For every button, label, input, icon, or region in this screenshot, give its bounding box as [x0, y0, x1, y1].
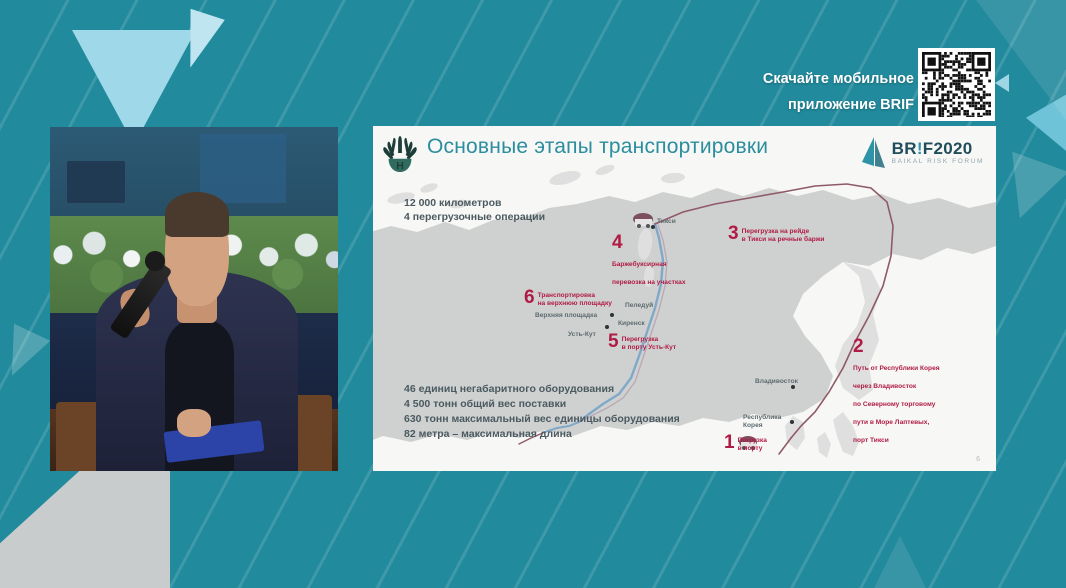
- stat-line: 630 тонн максимальный вес единицы оборуд…: [404, 412, 680, 427]
- marker-text: Перегрузка в порту Усть-Кут: [622, 336, 677, 352]
- marker-text: Транспортировка на верхнюю площадку: [538, 292, 612, 308]
- marker-number: 6: [524, 288, 535, 307]
- qr-code[interactable]: [918, 48, 995, 121]
- promo-arrow-icon: [995, 74, 1009, 92]
- brif-f2020: F2020: [923, 139, 973, 158]
- brif-wordmark: BR!F2020: [892, 140, 984, 157]
- marker-text: Путь от Республики Корея через Владивост…: [853, 365, 940, 444]
- company-emblem-icon: H: [381, 134, 419, 174]
- city-label-kirensk: Киренск: [618, 320, 645, 327]
- port-icon-tiksi: [633, 213, 653, 228]
- marker-number: 3: [728, 224, 739, 243]
- city-dot-korea: [790, 420, 794, 424]
- city-dot-vladivostok: [791, 385, 795, 389]
- speaker-hand: [177, 409, 212, 437]
- stat-line: 4 перегрузочные операции: [404, 210, 545, 224]
- brif-logo: BR!F2020 BAIKAL RISK FORUM: [860, 136, 984, 170]
- map-marker-2: 2 Путь от Республики Корея через Владиво…: [853, 337, 940, 447]
- presentation-slide[interactable]: H Основные этапы транспортировки BR!F202…: [373, 126, 996, 471]
- promo-line-2: приложение BRIF: [763, 92, 914, 118]
- marker-number: 1: [724, 433, 735, 452]
- city-label-peleduy: Пеледуй: [625, 302, 653, 309]
- city-label-vladivostok: Владивосток: [755, 378, 798, 385]
- map-marker-1: 1 Погрузка в порту: [724, 433, 767, 453]
- stats-bottom: 46 единиц негабаритного оборудования 4 5…: [404, 382, 680, 442]
- map-marker-4: 4 Баржебуксирная перевозка на участках: [612, 233, 686, 289]
- marker-text: Баржебуксирная перевозка на участках: [612, 261, 686, 286]
- promo-line-1: Скачайте мобильное: [763, 66, 914, 92]
- city-dot-ust-kut: [605, 325, 609, 329]
- page-title: Основные этапы транспортировки: [427, 135, 768, 159]
- video-stage-panel: [67, 161, 125, 202]
- city-label-verkhnyaya-ploshchadka: Верхняя площадка: [535, 312, 597, 319]
- svg-text:H: H: [396, 161, 404, 172]
- city-label-tiksi: Тикси: [657, 218, 676, 225]
- speaker-hair: [165, 192, 228, 237]
- decorative-triangle-7: [854, 536, 946, 588]
- city-label-korea: Республика Корея: [743, 414, 781, 430]
- screen: H Основные этапы транспортировки BR!F202…: [0, 0, 1066, 588]
- map-marker-6: 6 Транспортировка на верхнюю площадку: [524, 288, 612, 308]
- city-dot-verkhnyaya: [610, 313, 614, 317]
- stat-line: 4 500 тонн общий вес поставки: [404, 397, 680, 412]
- slide-page-number: 6: [976, 456, 980, 463]
- speaker-video-panel[interactable]: [50, 127, 338, 471]
- stat-line: 82 метра – максимальная длина: [404, 427, 680, 442]
- marker-number: 5: [608, 332, 619, 351]
- marker-number: 4: [612, 233, 686, 252]
- video-chair-left: [56, 402, 102, 471]
- brif-tagline: BAIKAL RISK FORUM: [892, 159, 984, 166]
- stat-line: 12 000 километров: [404, 196, 545, 210]
- promo-text: Скачайте мобильное приложение BRIF: [763, 66, 914, 118]
- decorative-wedge-bottom-left: [0, 468, 170, 588]
- brif-sail-icon: [860, 136, 886, 170]
- marker-number: 2: [853, 337, 940, 356]
- decorative-triangle-2: [173, 9, 225, 73]
- city-dot-tiksi: [651, 225, 655, 229]
- map-marker-3: 3 Перегрузка на рейде в Тикси на речные …: [728, 224, 824, 244]
- stats-top: 12 000 километров 4 перегрузочные операц…: [404, 196, 545, 224]
- stat-line: 46 единиц негабаритного оборудования: [404, 382, 680, 397]
- map-marker-5: 5 Перегрузка в порту Усть-Кут: [608, 332, 676, 352]
- marker-text: Погрузка в порту: [738, 437, 767, 453]
- decorative-triangle-5: [0, 324, 50, 384]
- marker-text: Перегрузка на рейде в Тикси на речные ба…: [742, 228, 825, 244]
- city-label-ust-kut: Усть-Кут: [568, 331, 596, 338]
- video-stage-screen: [200, 134, 286, 203]
- brif-br: BR: [892, 139, 917, 158]
